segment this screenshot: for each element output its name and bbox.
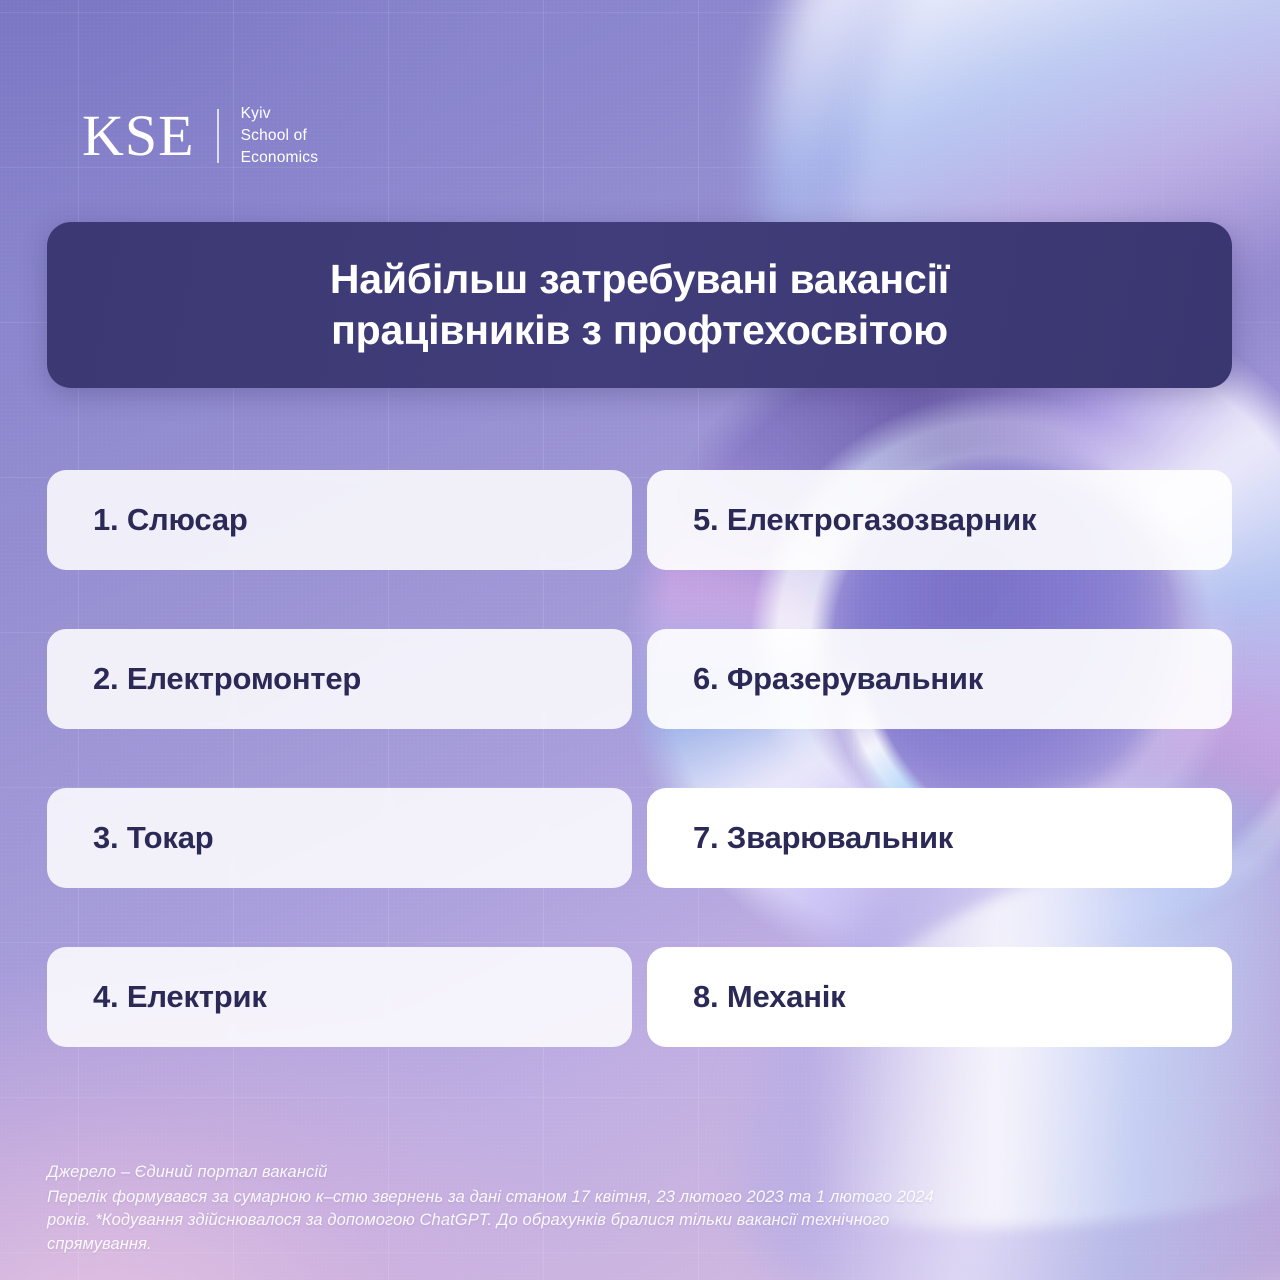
ranking-card-label: 3. Токар xyxy=(93,820,213,856)
logo-divider xyxy=(217,109,219,163)
ranking-card-label: 2. Електромонтер xyxy=(93,661,361,697)
footnote-source: Джерело – Єдиний портал вакансій xyxy=(47,1161,957,1184)
ranking-card-grid: 1. Слюсар 2. Електромонтер 3. Токар 4. Е… xyxy=(47,470,1232,1047)
page-title-line-2: працівників з профтехосвітою xyxy=(330,305,949,356)
ranking-card: 2. Електромонтер xyxy=(47,629,632,729)
ranking-card: 6. Фразерувальник xyxy=(647,629,1232,729)
ranking-card: 1. Слюсар xyxy=(47,470,632,570)
infographic-page: KSE Kyiv School of Economics Найбільш за… xyxy=(0,0,1280,1280)
ranking-card: 4. Електрик xyxy=(47,947,632,1047)
ranking-card: 8. Механік xyxy=(647,947,1232,1047)
ranking-card-label: 5. Електрогазозварник xyxy=(693,502,1036,538)
kse-logo-wordmark: KSE xyxy=(82,107,195,165)
title-banner: Найбільш затребувані вакансії працівникі… xyxy=(47,222,1232,388)
footnote: Джерело – Єдиний портал вакансій Перелік… xyxy=(47,1161,957,1256)
page-title: Найбільш затребувані вакансії працівникі… xyxy=(290,254,989,356)
logo-subtitle-line-2: School of xyxy=(241,125,319,147)
ranking-card: 5. Електрогазозварник xyxy=(647,470,1232,570)
footnote-methodology: Перелік формувався за сумарною к–стю зве… xyxy=(47,1186,957,1256)
page-title-line-1: Найбільш затребувані вакансії xyxy=(330,254,949,305)
ranking-card: 7. Зварювальник xyxy=(647,788,1232,888)
ranking-card-label: 1. Слюсар xyxy=(93,502,248,538)
ranking-card-label: 7. Зварювальник xyxy=(693,820,953,856)
ranking-card: 3. Токар xyxy=(47,788,632,888)
kse-logo: KSE Kyiv School of Economics xyxy=(82,103,318,169)
logo-subtitle-line-1: Kyiv xyxy=(241,103,319,125)
ranking-card-label: 6. Фразерувальник xyxy=(693,661,983,697)
ranking-card-label: 4. Електрик xyxy=(93,979,267,1015)
ranking-card-label: 8. Механік xyxy=(693,979,845,1015)
logo-subtitle-line-3: Economics xyxy=(241,147,319,169)
kse-logo-subtitle: Kyiv School of Economics xyxy=(241,103,319,169)
